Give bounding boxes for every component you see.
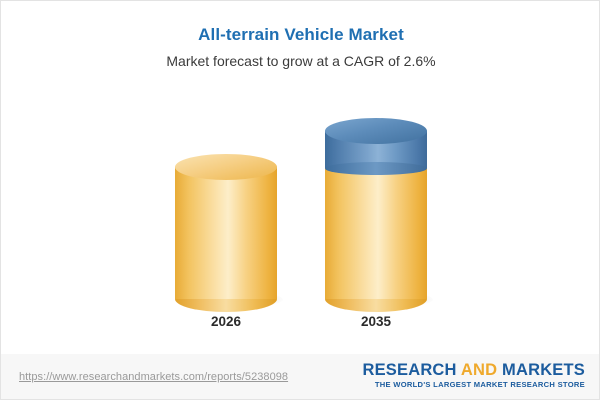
- bar-segment-base: [325, 168, 427, 299]
- infographic-card: All-terrain Vehicle Market Market foreca…: [0, 0, 600, 400]
- brand-logo[interactable]: RESEARCH AND MARKETS THE WORLD'S LARGEST…: [362, 361, 585, 389]
- bar-cylinder-2026[interactable]: [175, 154, 277, 299]
- report-url-link[interactable]: https://www.researchandmarkets.com/repor…: [19, 371, 288, 383]
- chart-title: All-terrain Vehicle Market: [1, 25, 600, 45]
- logo-word-markets: MARKETS: [502, 361, 585, 379]
- chart-plot-area: USD 3.49 Billion 2026 USD 4.38 Billion: [1, 81, 600, 343]
- logo-tagline: THE WORLD'S LARGEST MARKET RESEARCH STOR…: [362, 380, 585, 389]
- footer-bar: https://www.researchandmarkets.com/repor…: [1, 354, 600, 399]
- bar-category-label: 2026: [146, 314, 306, 329]
- chart-subtitle: Market forecast to grow at a CAGR of 2.6…: [1, 53, 600, 69]
- logo-word-research: RESEARCH: [362, 361, 456, 379]
- logo-wordmark: RESEARCH AND MARKETS: [362, 361, 585, 379]
- bar-top-cap: [175, 154, 277, 180]
- bar-category-label: 2035: [296, 314, 456, 329]
- logo-word-and: AND: [461, 361, 497, 379]
- bar-cylinder-2035[interactable]: [325, 118, 427, 299]
- bar-segment-base: [175, 167, 277, 299]
- bar-top-cap: [325, 118, 427, 144]
